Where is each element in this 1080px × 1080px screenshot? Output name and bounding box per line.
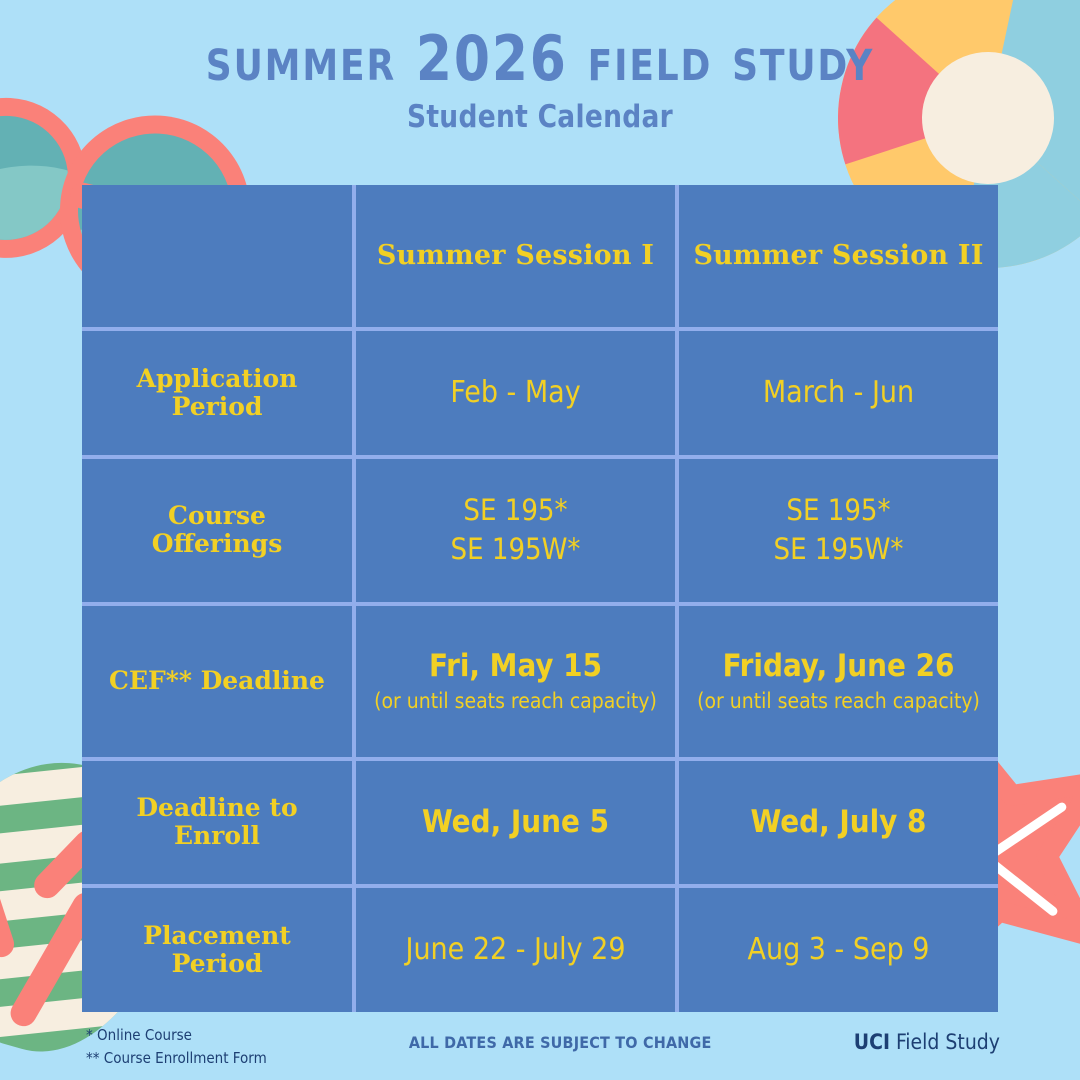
disclaimer-text: ALL DATES ARE SUBJECT TO CHANGE xyxy=(409,1024,712,1052)
cell-note: (or until seats reach capacity) xyxy=(697,689,980,715)
table-row-application-period: Application Period Feb - May March - Jun xyxy=(82,331,998,455)
row-label-line: Enroll xyxy=(174,822,260,850)
row-label-line: Period xyxy=(172,950,263,978)
cell-value: March - Jun xyxy=(763,373,914,414)
cell-value: June 22 - July 29 xyxy=(405,930,625,971)
calendar-table: Summer Session I Summer Session II Appli… xyxy=(82,185,998,1012)
footnote-online-course: * Online Course xyxy=(86,1024,267,1047)
poster-header: Summer 2026 Field Study Student Calendar xyxy=(0,26,1080,135)
cell-note: (or until seats reach capacity) xyxy=(374,689,657,715)
row-label-line: Period xyxy=(172,393,263,421)
brand-uci: UCI xyxy=(854,1030,890,1054)
cell-value: Wed, July 8 xyxy=(751,804,927,841)
column-header-label: Summer Session II xyxy=(693,240,983,271)
cell-course-offerings-session-1: SE 195* SE 195W* xyxy=(356,459,675,602)
cell-value: Feb - May xyxy=(450,373,580,414)
cell-cef-deadline-session-2: Friday, June 26 (or until seats reach ca… xyxy=(679,606,998,757)
page-subtitle: Student Calendar xyxy=(27,99,1053,135)
table-row-placement-period: Placement Period June 22 - July 29 Aug 3… xyxy=(82,888,998,1012)
poster-footer: * Online Course ** Course Enrollment For… xyxy=(86,1024,1000,1076)
table-row-course-offerings: Course Offerings SE 195* SE 195W* SE 195… xyxy=(82,459,998,602)
table-row-cef-deadline: CEF** Deadline Fri, May 15 (or until sea… xyxy=(82,606,998,757)
cell-application-period-session-2: March - Jun xyxy=(679,331,998,455)
cell-cef-deadline-session-1: Fri, May 15 (or until seats reach capaci… xyxy=(356,606,675,757)
row-label-line: CEF** Deadline xyxy=(109,667,325,695)
cell-placement-period-session-2: Aug 3 - Sep 9 xyxy=(679,888,998,1012)
row-label-placement-period: Placement Period xyxy=(82,888,352,1012)
cell-value-line: SE 195W* xyxy=(774,530,904,569)
row-label-line: Course xyxy=(168,502,266,530)
footnotes: * Online Course ** Course Enrollment For… xyxy=(86,1024,267,1069)
row-label-cef-deadline: CEF** Deadline xyxy=(82,606,352,757)
poster-canvas: Summer 2026 Field Study Student Calendar… xyxy=(0,0,1080,1080)
column-header-label: Summer Session I xyxy=(377,240,654,271)
cell-application-period-session-1: Feb - May xyxy=(356,331,675,455)
cell-deadline-to-enroll-session-1: Wed, June 5 xyxy=(356,761,675,884)
row-label-deadline-to-enroll: Deadline to Enroll xyxy=(82,761,352,884)
row-label-line: Offerings xyxy=(152,530,283,558)
row-label-line: Application xyxy=(137,365,298,393)
column-header-session-2: Summer Session II xyxy=(679,185,998,327)
cell-value: Wed, June 5 xyxy=(422,804,609,841)
cell-course-offerings-session-2: SE 195* SE 195W* xyxy=(679,459,998,602)
row-label-application-period: Application Period xyxy=(82,331,352,455)
page-title: Summer 2026 Field Study xyxy=(38,26,1042,91)
cell-placement-period-session-1: June 22 - July 29 xyxy=(356,888,675,1012)
cell-deadline-to-enroll-session-2: Wed, July 8 xyxy=(679,761,998,884)
brand-logo: UCI Field Study xyxy=(854,1024,1000,1054)
footnote-course-enrollment-form: ** Course Enrollment Form xyxy=(86,1047,267,1070)
cell-value: Fri, May 15 xyxy=(429,648,602,685)
cell-value-line: SE 195W* xyxy=(451,530,581,569)
cell-value: Friday, June 26 xyxy=(723,648,955,685)
cell-value-line: SE 195* xyxy=(786,491,890,530)
row-label-course-offerings: Course Offerings xyxy=(82,459,352,602)
table-header-row: Summer Session I Summer Session II xyxy=(82,185,998,327)
table-row-deadline-to-enroll: Deadline to Enroll Wed, June 5 Wed, July… xyxy=(82,761,998,884)
row-label-line: Deadline to xyxy=(136,794,297,822)
row-label-line: Placement xyxy=(143,922,291,950)
table-corner-cell xyxy=(82,185,352,327)
cell-value: Aug 3 - Sep 9 xyxy=(748,930,930,971)
cell-value-line: SE 195* xyxy=(463,491,567,530)
brand-field-study: Field Study xyxy=(890,1030,1000,1054)
column-header-session-1: Summer Session I xyxy=(356,185,675,327)
